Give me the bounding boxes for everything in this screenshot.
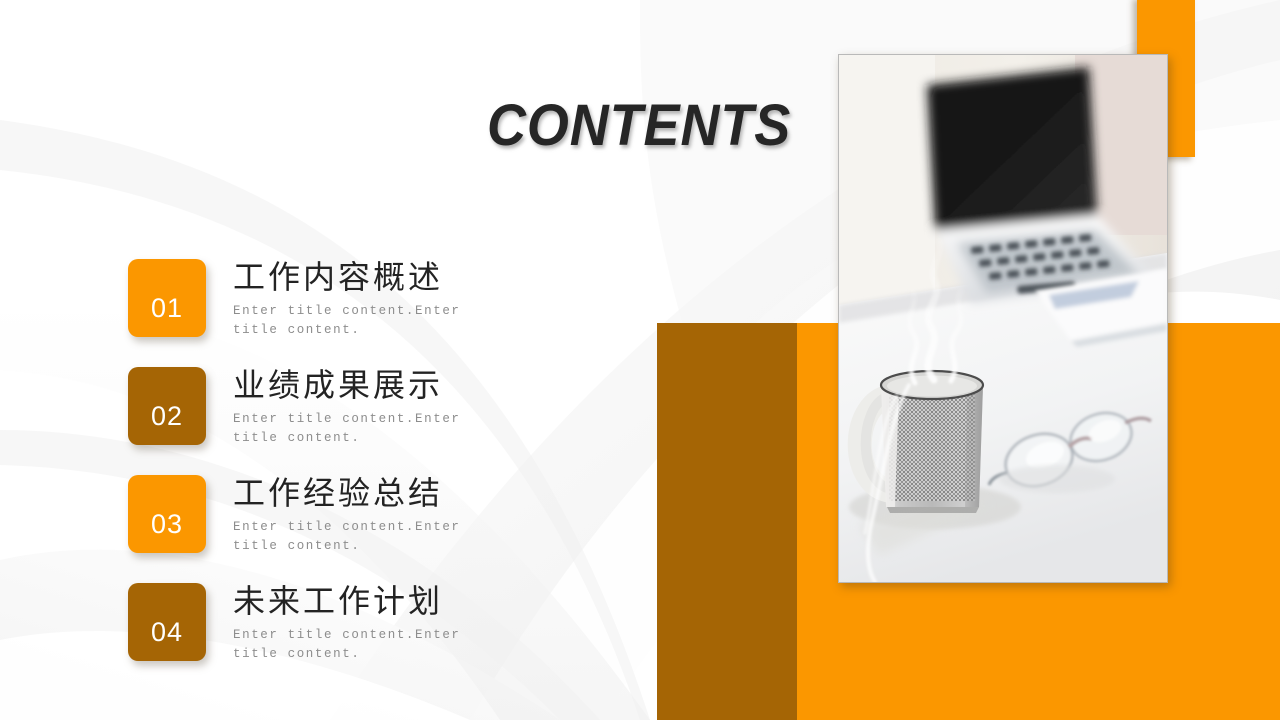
- list-item-subtitle: Enter title content.Enter title content.: [233, 302, 495, 341]
- number-badge-03[interactable]: 03: [128, 475, 206, 553]
- list-item-subtitle: Enter title content.Enter title content.: [233, 626, 495, 665]
- contents-list: 01 工作内容概述 Enter title content.Enter titl…: [128, 259, 548, 691]
- list-item-title: 未来工作计划: [233, 581, 533, 622]
- number-badge-label: 01: [128, 295, 206, 322]
- list-item[interactable]: 02 业绩成果展示 Enter title content.Enter titl…: [128, 367, 548, 475]
- list-item[interactable]: 03 工作经验总结 Enter title content.Enter titl…: [128, 475, 548, 583]
- list-item-title: 业绩成果展示: [233, 365, 533, 406]
- list-item-subtitle: Enter title content.Enter title content.: [233, 410, 495, 449]
- list-item-subtitle: Enter title content.Enter title content.: [233, 518, 495, 557]
- page-title: CONTENTS: [487, 92, 791, 159]
- list-item-title: 工作经验总结: [233, 473, 533, 514]
- presentation-slide: CONTENTS 01 工作内容概述 Enter title content.E…: [0, 0, 1280, 720]
- list-item[interactable]: 01 工作内容概述 Enter title content.Enter titl…: [128, 259, 548, 367]
- desk-photo: [838, 54, 1168, 583]
- number-badge-04[interactable]: 04: [128, 583, 206, 661]
- list-item-texts: 工作内容概述 Enter title content.Enter title c…: [233, 257, 533, 341]
- number-badge-label: 04: [128, 619, 206, 646]
- list-item-texts: 工作经验总结 Enter title content.Enter title c…: [233, 473, 533, 557]
- number-badge-label: 03: [128, 511, 206, 538]
- list-item-texts: 未来工作计划 Enter title content.Enter title c…: [233, 581, 533, 665]
- list-item[interactable]: 04 未来工作计划 Enter title content.Enter titl…: [128, 583, 548, 691]
- list-item-texts: 业绩成果展示 Enter title content.Enter title c…: [233, 365, 533, 449]
- number-badge-02[interactable]: 02: [128, 367, 206, 445]
- number-badge-label: 02: [128, 403, 206, 430]
- list-item-title: 工作内容概述: [233, 257, 533, 298]
- number-badge-01[interactable]: 01: [128, 259, 206, 337]
- desk-photo-illustration: [839, 55, 1167, 582]
- brown-accent-panel: [657, 323, 797, 720]
